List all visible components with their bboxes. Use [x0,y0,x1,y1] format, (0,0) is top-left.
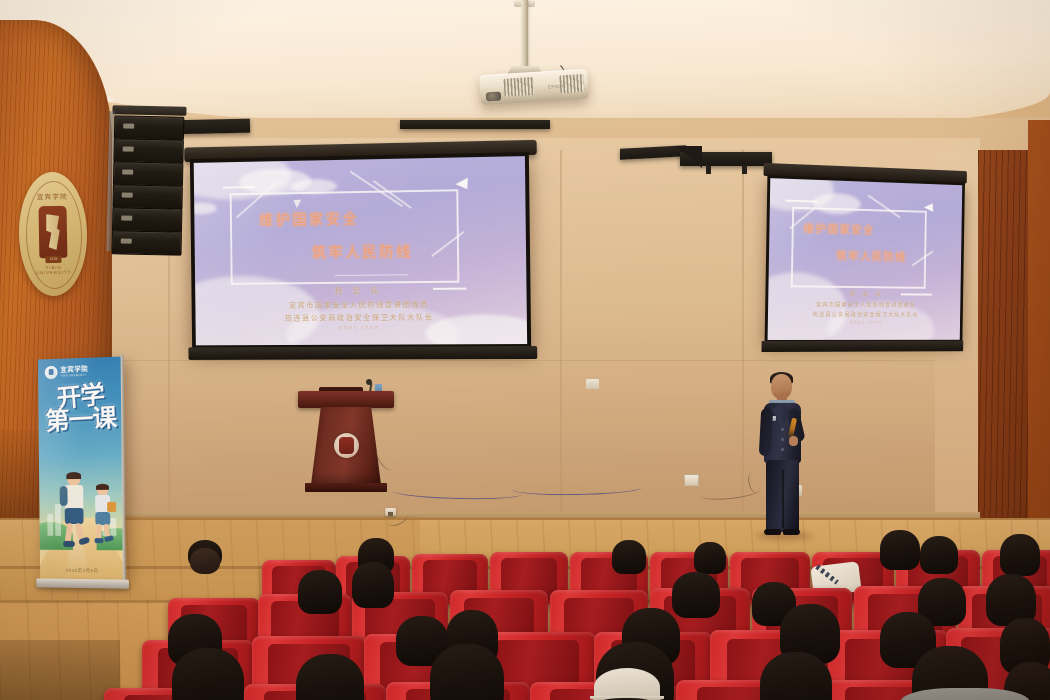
university-wall-emblem: 宜宾学院 YIBIN UNIVERSITY 1978 [18,171,88,296]
truss-nub [742,165,747,174]
projector-vent [503,77,534,97]
speaker-cabinet [114,115,184,140]
audience-head [1000,534,1040,576]
speaker-badge [121,215,132,220]
main-projection-screen: 维护国家安全 筑牢人民防线 杨 宏 兵 宜宾市国家安全人民防线宣讲团成员 筠连县… [190,152,531,349]
speaker-cabinet [111,230,181,255]
audience-head [298,570,342,614]
speaker-cabinet [113,138,183,163]
wall-seam [742,150,744,528]
audience-head [920,536,958,574]
slide-title-line2: 筑牢人民防线 [836,248,907,265]
truss-nub [706,165,711,174]
audience-head [430,644,504,700]
speaker-badge [122,169,133,174]
slide-content: 维护国家安全 筑牢人民防线 杨 宏 兵 宜宾市国家安全人民防线宣讲团成员 筠连县… [194,156,527,345]
slide-title-line1: 维护国家安全 [259,208,359,230]
screen-bottom-bar [761,341,963,352]
lectern-podium [303,391,389,495]
speaker-rigging-bar [112,105,186,116]
speaker-cabinet [112,207,182,232]
right-wood-panel-outer [1028,120,1050,550]
presenter-button [781,428,784,431]
right-wood-panel [978,150,1032,542]
projector-lens [486,92,502,102]
ceiling-truss-beam [400,120,550,129]
podium-microphone-head[interactable] [366,379,372,385]
podium-top-surface [298,391,394,408]
slide-title-line2: 筑牢人民防线 [312,240,413,262]
audience-head [172,648,244,700]
wall-emblem-year: 1978 [45,256,61,263]
wall-emblem-chinese-name: 宜宾学院 [31,189,73,206]
speaker-badge [123,123,134,128]
screen-frame: 维护国家安全 筑牢人民防线 杨 宏 兵 宜宾市国家安全人民防线宣讲团成员 筠连县… [765,175,965,343]
screen-frame: 维护国家安全 筑牢人民防线 杨 宏 兵 宜宾市国家安全人民防线宣讲团成员 筠连县… [190,152,531,349]
speaker-badge [121,238,132,243]
speaker-cabinet [113,161,183,186]
projector-brand-label: EPSON [548,83,566,89]
presenter-button [781,448,784,451]
wall-emblem-english-name: YIBIN UNIVERSITY [29,265,79,276]
slide-speaker-org-line1: 宜宾市国家安全人民防线宣讲团成员 [768,300,960,309]
line-array-speaker-stack [112,113,185,250]
slide-speaker-org-line2: 筠连县公安局政治安全保卫大队大队长 [195,311,526,324]
screen-bottom-bar [188,346,537,360]
speaker-cabinet [112,184,182,209]
slide-footer-note: 国家安全 人民防线 [768,320,960,324]
speaker-badge [123,146,134,151]
slide-subtitle-block: 杨 宏 兵 宜宾市国家安全人民防线宣讲团成员 筠连县公安局政治安全保卫大队大队长… [195,284,527,332]
audience-head [694,542,726,574]
speaker-badge [122,192,133,197]
slide-speaker-name: 杨 宏 兵 [768,288,960,299]
slide-subtitle-block: 杨 宏 兵 宜宾市国家安全人民防线宣讲团成员 筠连县公安局政治安全保卫大队大队长… [768,288,961,324]
wall-power-outlet[interactable] [684,474,699,486]
projector-pole [521,0,528,74]
slide-speaker-org-line1: 宜宾市国家安全人民防线宣讲团成员 [195,298,526,311]
secondary-projection-screen: 维护国家安全 筑牢人民防线 杨 宏 兵 宜宾市国家安全人民防线宣讲团成员 筠连县… [765,175,965,343]
audience-head [352,562,394,608]
wall-power-outlet[interactable] [586,379,599,389]
auditorium-photo: 宜宾学院 YIBIN UNIVERSITY 1978 EPSON [0,0,1050,700]
slide-content: 维护国家安全 筑牢人民防线 杨 宏 兵 宜宾市国家安全人民防线宣讲团成员 筠连县… [768,178,963,340]
audience-seating: 排 [0,512,1050,700]
podium-base [305,483,387,492]
wall-seam-horizontal [96,360,980,361]
audience-head [190,548,220,574]
audience-head [672,572,720,618]
presenter-button [781,438,784,441]
audience-head [612,540,646,574]
slide-speaker-org-line2: 筠连县公安局政治安全保卫大队大队长 [768,310,960,319]
presenter-hand [789,436,798,446]
slide-speaker-name: 杨 宏 兵 [195,284,526,298]
audience-head [880,530,920,570]
presenter-left-arm [759,408,773,457]
slide-title-line1: 维护国家安全 [803,220,875,238]
podium-university-emblem [334,433,359,458]
wall-seam [560,150,562,528]
